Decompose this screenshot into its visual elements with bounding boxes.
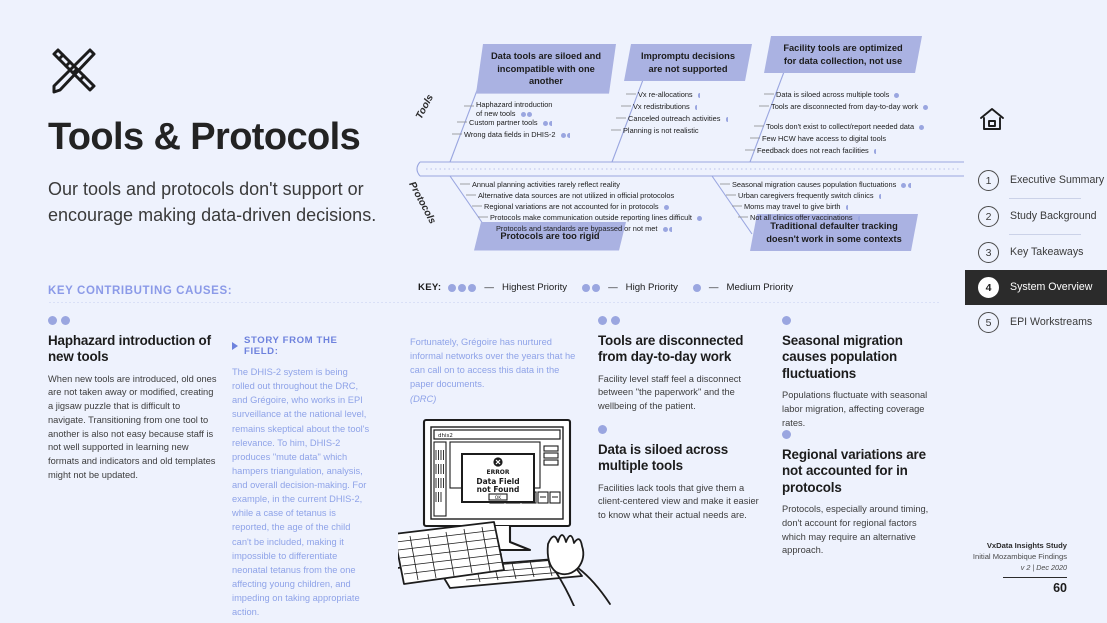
- sidebar-item-epi-workstreams[interactable]: 5 EPI Workstreams: [965, 305, 1107, 340]
- nav-number: 3: [978, 242, 999, 263]
- section-header-label: KEY CONTRIBUTING CAUSES:: [48, 285, 232, 297]
- section-navigation: 1 Executive Summary 2 Study Background 3…: [965, 106, 1107, 340]
- sidebar-item-label: Study Background: [1010, 210, 1097, 223]
- fishbone-item-text: Seasonal migration causes population flu…: [732, 180, 896, 189]
- fishbone-item: Custom partner tools: [469, 118, 552, 127]
- story-text-col1: The DHIS-2 system is being rolled out th…: [232, 365, 372, 619]
- home-icon[interactable]: [978, 106, 1107, 137]
- story-heading: STORY FROM THE FIELD:: [244, 335, 372, 357]
- fishbone-item: Canceled outreach activities: [628, 114, 728, 123]
- nav-number: 1: [978, 170, 999, 191]
- cause-body: Populations fluctuate with seasonal labo…: [782, 389, 942, 430]
- footer-version: v 2 | Dec 2020: [973, 562, 1067, 574]
- page-title: Tools & Protocols: [48, 118, 408, 158]
- priority-dots: [901, 183, 910, 188]
- fishbone-item: Moms may travel to give birth: [744, 202, 848, 211]
- priority-key-legend: KEY: — Highest Priority — High Priority …: [418, 282, 793, 293]
- section-header: KEY CONTRIBUTING CAUSES:: [48, 281, 232, 299]
- fishbone-item-text: Protocols and standards are bypassed or …: [496, 224, 657, 233]
- cause-title: Tools are disconnected from day-to-day w…: [598, 333, 764, 366]
- sidebar-item-label: Executive Summary: [1010, 174, 1104, 187]
- priority-dots: [664, 205, 669, 210]
- sidebar-item-key-takeaways[interactable]: 3 Key Takeaways: [965, 235, 1107, 270]
- priority-dots: [598, 425, 764, 434]
- fishbone-item-text: Moms may travel to give birth: [744, 202, 841, 211]
- fishbone-item-text: Planning is not realistic: [623, 126, 699, 135]
- fishbone-item-text: Tools don't exist to collect/report need…: [766, 122, 914, 131]
- priority-dots: [879, 194, 882, 199]
- cause-title: Haphazard introduction of new tools: [48, 333, 220, 366]
- key-level-label-medium: Medium Priority: [727, 282, 794, 293]
- svg-text:dhis2: dhis2: [438, 433, 453, 439]
- fishbone-banner-impromptu-decisions: Impromptu decisions are not supported: [624, 44, 752, 81]
- priority-dots: [894, 93, 899, 98]
- key-dots-highest: [448, 284, 476, 292]
- priority-dots: [782, 430, 942, 439]
- svg-text:ERROR: ERROR: [486, 469, 509, 476]
- priority-dots: [543, 121, 552, 126]
- fishbone-item: Planning is not realistic: [623, 126, 699, 135]
- priority-dots: [521, 112, 533, 117]
- ruler-pencil-icon: [48, 44, 100, 96]
- priority-dots: [697, 216, 702, 221]
- priority-dots: [663, 227, 672, 232]
- priority-dots: [919, 125, 924, 130]
- priority-dots: [726, 117, 729, 122]
- cause-title: Regional variations are not accounted fo…: [782, 447, 942, 496]
- fishbone-item: Tools are disconnected from day-to-day w…: [771, 102, 928, 111]
- svg-text:not Found: not Found: [477, 485, 520, 494]
- key-dash: —: [709, 282, 719, 293]
- cause-body: Facility level staff feel a disconnect b…: [598, 373, 764, 414]
- fishbone-item: Annual planning activities rarely reflec…: [472, 180, 620, 189]
- sidebar-item-label: EPI Workstreams: [1010, 316, 1092, 329]
- footer-study-name: VxData Insights Study: [973, 540, 1067, 551]
- fishbone-item: Not all clinics offer vaccinations: [750, 213, 860, 222]
- priority-dots: [846, 205, 849, 210]
- story-continuation: Fortunately, Grégoire has nurtured infor…: [410, 335, 576, 406]
- fishbone-item-text: Haphazard introduction: [476, 100, 552, 109]
- fishbone-diagram: Tools Protocols Data tools are siloed an…: [412, 34, 972, 256]
- priority-dots: [598, 316, 764, 325]
- key-dots-high: [582, 284, 600, 292]
- fishbone-item-text: Not all clinics offer vaccinations: [750, 213, 853, 222]
- fishbone-banner-facility-tools: Facility tools are optimized for data co…: [764, 36, 922, 73]
- sidebar-item-label: Key Takeaways: [1010, 246, 1083, 259]
- priority-dots: [874, 149, 877, 154]
- fishbone-item: Protocols and standards are bypassed or …: [496, 224, 672, 233]
- priority-dots: [923, 105, 928, 110]
- svg-text:OK: OK: [495, 495, 503, 501]
- fishbone-item-text: Annual planning activities rarely reflec…: [472, 180, 620, 189]
- fishbone-item: Alternative data sources are not utilize…: [478, 191, 674, 200]
- cause-body: Facilities lack tools that give them a c…: [598, 482, 764, 523]
- key-level-label-highest: Highest Priority: [502, 282, 567, 293]
- fishbone-item: Vx re-allocations: [638, 90, 700, 99]
- story-from-the-field: STORY FROM THE FIELD: The DHIS-2 system …: [232, 335, 372, 619]
- fishbone-item: Protocols make communication outside rep…: [490, 213, 702, 222]
- cause-card-regional-variations: Regional variations are not accounted fo…: [782, 430, 942, 558]
- fishbone-item-text: Canceled outreach activities: [628, 114, 720, 123]
- fishbone-item: Feedback does not reach facilities: [757, 146, 876, 155]
- cause-card-haphazard-tools: Haphazard introduction of new tools When…: [48, 316, 220, 483]
- page-subtitle: Our tools and protocols don't support or…: [48, 176, 408, 228]
- fishbone-item: Few HCW have access to digital tools: [762, 134, 886, 143]
- story-heading-row: STORY FROM THE FIELD:: [232, 335, 372, 357]
- section-divider: [48, 302, 940, 303]
- cause-body: When new tools are introduced, old ones …: [48, 373, 220, 483]
- key-dash: —: [608, 282, 618, 293]
- fishbone-banner-data-tools-siloed: Data tools are siloed and incompatible w…: [476, 44, 616, 94]
- cause-title: Seasonal migration causes population flu…: [782, 333, 942, 382]
- nav-number: 4: [978, 277, 999, 298]
- fishbone-item: Data is siloed across multiple tools: [776, 90, 899, 99]
- footer-block: VxData Insights Study Initial Mozambique…: [973, 540, 1067, 595]
- nav-number: 5: [978, 312, 999, 333]
- key-dots-medium: [693, 284, 701, 292]
- sidebar-item-executive-summary[interactable]: 1 Executive Summary: [965, 163, 1107, 198]
- fishbone-item: Urban caregivers frequently switch clini…: [738, 191, 881, 200]
- key-label: KEY:: [418, 282, 441, 293]
- fishbone-item: Tools don't exist to collect/report need…: [766, 122, 924, 131]
- key-dash: —: [484, 282, 494, 293]
- cause-body: Protocols, especially around timing, don…: [782, 503, 942, 558]
- fishbone-item: Seasonal migration causes population flu…: [732, 180, 911, 189]
- story-text-col2: Fortunately, Grégoire has nurtured infor…: [410, 335, 576, 392]
- slide-page: Tools & Protocols Our tools and protocol…: [0, 0, 1107, 623]
- fishbone-item-text: Alternative data sources are not utilize…: [478, 191, 674, 200]
- priority-dots: [858, 216, 861, 221]
- fishbone-item-text: Few HCW have access to digital tools: [762, 134, 886, 143]
- footer-subtitle: Initial Mozambique Findings: [973, 551, 1067, 562]
- priority-dots: [782, 316, 942, 325]
- fishbone-item-text: Protocols make communication outside rep…: [490, 213, 692, 222]
- fishbone-item-text: Vx redistributions: [633, 102, 690, 111]
- sidebar-item-system-overview[interactable]: 4 System Overview: [965, 270, 1107, 305]
- cause-card-seasonal-migration: Seasonal migration causes population flu…: [782, 316, 942, 430]
- fishbone-item-text: Regional variations are not accounted fo…: [484, 202, 659, 211]
- priority-dots: [48, 316, 220, 325]
- computer-error-illustration: dhis2: [398, 416, 623, 606]
- fishbone-item-text: Data is siloed across multiple tools: [776, 90, 889, 99]
- cause-card-data-siloed: Data is siloed across multiple tools Fac…: [598, 425, 764, 523]
- hero-block: Tools & Protocols Our tools and protocol…: [48, 44, 408, 228]
- fishbone-item-text: Urban caregivers frequently switch clini…: [738, 191, 874, 200]
- fishbone-item: Wrong data fields in DHIS-2: [464, 130, 570, 139]
- priority-dots: [561, 133, 570, 138]
- cause-card-tools-disconnected: Tools are disconnected from day-to-day w…: [598, 316, 764, 414]
- page-number: 60: [973, 581, 1067, 595]
- footer-rule: [1003, 577, 1067, 578]
- fishbone-item-text: Custom partner tools: [469, 118, 538, 127]
- fishbone-item-text: Wrong data fields in DHIS-2: [464, 130, 555, 139]
- fishbone-item-text: Vx re-allocations: [638, 90, 693, 99]
- fishbone-item: Haphazard introduction of new tools: [476, 100, 552, 119]
- fishbone-item: Regional variations are not accounted fo…: [484, 202, 669, 211]
- play-triangle-icon: [232, 342, 238, 350]
- key-level-label-high: High Priority: [626, 282, 678, 293]
- cause-title: Data is siloed across multiple tools: [598, 442, 764, 475]
- story-attribution: (DRC): [410, 392, 576, 406]
- fishbone-item-text2: of new tools: [476, 109, 515, 118]
- sidebar-item-label: System Overview: [1010, 281, 1092, 294]
- priority-dots: [698, 93, 701, 98]
- priority-dots: [695, 105, 698, 110]
- fishbone-item: Vx redistributions: [633, 102, 697, 111]
- nav-number: 2: [978, 206, 999, 227]
- fishbone-item-text: Feedback does not reach facilities: [757, 146, 869, 155]
- fishbone-item-text: Tools are disconnected from day-to-day w…: [771, 102, 918, 111]
- sidebar-item-study-background[interactable]: 2 Study Background: [965, 199, 1107, 234]
